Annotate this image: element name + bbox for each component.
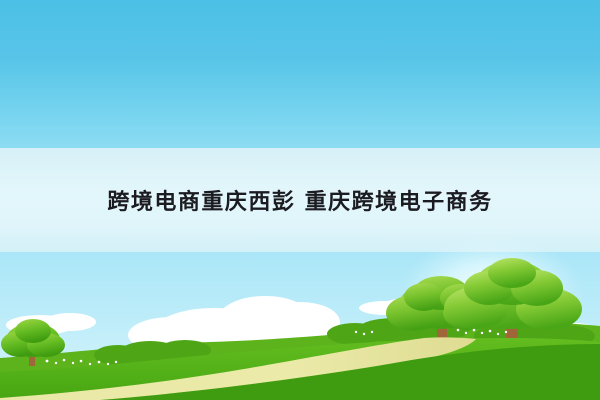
page-title-text: 跨境电商重庆西彭 重庆跨境电子商务 bbox=[107, 184, 492, 216]
page-title: 跨境电商重庆西彭 重庆跨境电子商务 bbox=[0, 148, 600, 252]
banner-image: 跨境电商重庆西彭 重庆跨境电子商务 bbox=[0, 0, 600, 400]
